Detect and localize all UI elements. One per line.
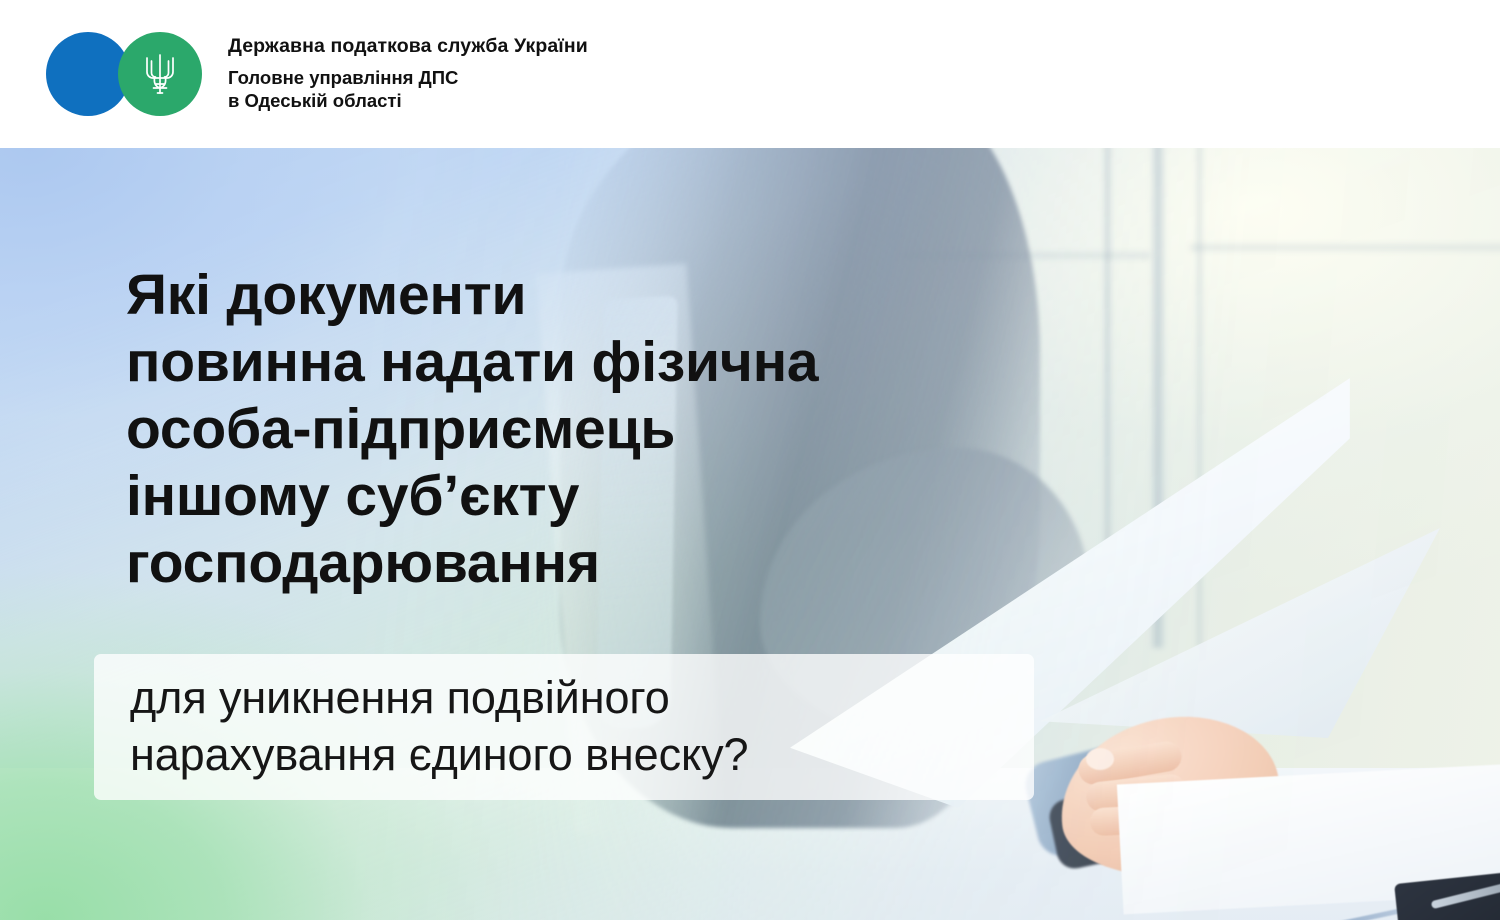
organisation-unit: Головне управління ДПС в Одеській област… bbox=[228, 67, 588, 112]
dps-logo bbox=[46, 32, 206, 116]
banner-header: Державна податкова служба України Головн… bbox=[0, 0, 1500, 148]
organisation-name: Державна податкова служба України bbox=[228, 36, 588, 57]
logo-green-circle bbox=[118, 32, 202, 116]
ukraine-trident-icon bbox=[143, 52, 177, 96]
subtitle-question: для уникнення подвійного нарахування єди… bbox=[94, 670, 772, 783]
headline-question: Які документи повинна надати фізична осо… bbox=[126, 262, 1086, 597]
dps-information-banner: Державна податкова служба України Головн… bbox=[0, 0, 1500, 920]
organisation-text: Державна податкова служба України Головн… bbox=[228, 36, 588, 113]
subtitle-panel: для уникнення подвійного нарахування єди… bbox=[94, 654, 1034, 800]
